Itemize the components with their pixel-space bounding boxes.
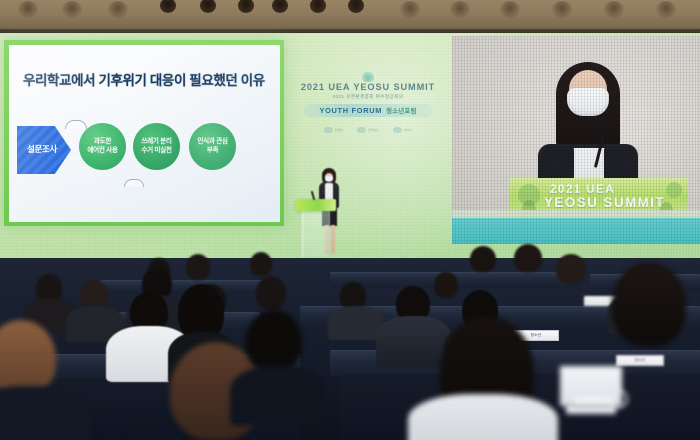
slide-title: 우리학교에서 기후위기 대응이 필요했던 이유	[23, 69, 270, 89]
circle-3-line2: 부족	[195, 147, 229, 155]
projected-slide: 우리학교에서 기후위기 대응이 필요했던 이유 설문조사 과도한 에어컨 사용 …	[4, 40, 284, 226]
backdrop-branding: 2021 UEA YEOSU SUMMIT 2021 유엔환경총회 여수정상회의…	[288, 82, 448, 133]
survey-arrow: 설문조사	[17, 126, 71, 174]
slide-circle-3: 인식과 관심 부족	[189, 123, 236, 170]
sponsor-logo: 여수시	[393, 127, 412, 133]
event-title: 2021 UEA YEOSU SUMMIT	[288, 82, 448, 92]
sponsor-logo: 전라남도	[357, 127, 379, 133]
sponsor-mark-icon	[324, 127, 333, 133]
circle-3-line1: 인식과 관심	[195, 138, 229, 146]
forum-banner: YOUTH FORUM 청소년포럼	[303, 104, 433, 117]
cloud-icon	[124, 179, 144, 187]
audience-shoulders-foreground-white	[408, 394, 558, 440]
audience-head	[186, 254, 210, 280]
audience-head	[470, 246, 496, 272]
stage-podium	[296, 195, 336, 257]
mask-ear-loop-icon	[608, 390, 628, 408]
forum-label-kr: 청소년포럼	[386, 106, 416, 115]
audience-floor-area: 청소년 참가자 청소년	[0, 258, 700, 440]
sponsor-logo: 환경부	[324, 127, 343, 133]
sponsor-mark-icon	[393, 127, 402, 133]
podium-acrylic-body	[302, 205, 330, 257]
slide-circle-2: 쓰레기 분리 수거 미실천	[133, 123, 180, 170]
circle-1-line1: 과도한	[85, 138, 119, 146]
audience-shoulders-foreground	[230, 366, 326, 426]
audience-head-foreground	[246, 310, 302, 372]
circle-2-line2: 수거 미실천	[139, 147, 173, 155]
audience-head	[514, 244, 542, 272]
leaf-icon	[362, 72, 374, 82]
name-placard: 청소년	[616, 355, 664, 366]
sponsor-logo-row: 환경부 전라남도 여수시	[288, 127, 448, 133]
led-display-screen: 2021 UEA YEOSU SUMMIT 2021 유엔환경총회 여수정상회의	[452, 36, 700, 244]
audience-head	[256, 276, 286, 310]
conference-photo-scene: 2021 UEA YEOSU SUMMIT 2021 유엔환경총회 여수정상회의…	[0, 0, 700, 440]
face-mask-icon	[325, 176, 333, 181]
sponsor-mark-icon	[357, 127, 366, 133]
audience-head-foreground	[612, 262, 686, 346]
led-pixel-grid	[452, 36, 700, 244]
survey-arrow-label: 설문조사	[21, 143, 63, 155]
circle-1-line2: 에어컨 사용	[85, 147, 119, 155]
audience-head	[250, 252, 272, 276]
document-paper	[566, 404, 616, 414]
audience-head	[556, 254, 586, 284]
audience-head	[434, 272, 458, 298]
circle-2-line1: 쓰레기 분리	[139, 138, 173, 146]
event-subtitle: 2021 유엔환경총회 여수정상회의	[288, 94, 448, 100]
ceiling-fixtures	[0, 0, 700, 26]
slide-circle-1: 과도한 에어컨 사용	[79, 123, 126, 170]
podium-green-banner	[296, 199, 336, 211]
forum-label-en: YOUTH FORUM	[319, 106, 382, 115]
